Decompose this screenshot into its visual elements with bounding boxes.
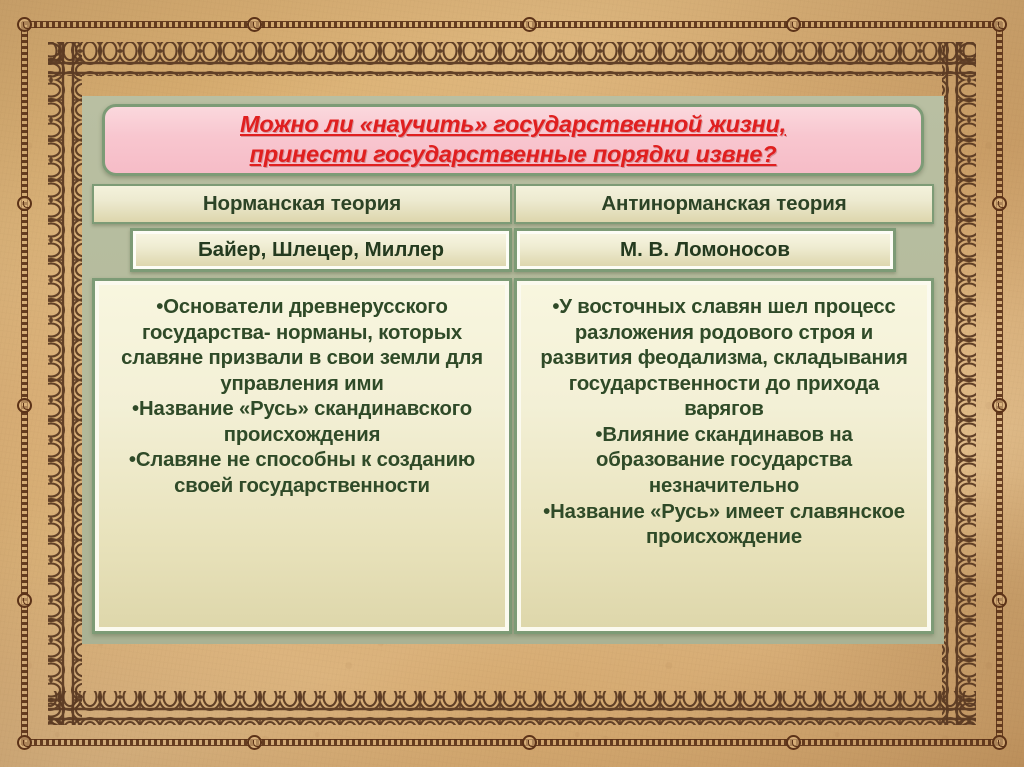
bullet-item: Славяне не способны к созданию своей гос… (111, 448, 493, 499)
theory-header-row: Норманская теория Антинорманская теория (92, 184, 934, 224)
author-box-norman: Байер, Шлецер, Миллер (130, 228, 512, 272)
bullet-list-anti-norman: У восточных славян шел процесс разложени… (533, 295, 915, 551)
slide-canvas: Можно ли «научить» государственной жизни… (0, 0, 1024, 767)
theory-label-anti-norman: Антинорманская теория (601, 192, 846, 216)
chain-band-top (48, 42, 976, 76)
content-panel: Можно ли «научить» государственной жизни… (82, 96, 944, 644)
theory-label-norman: Норманская теория (203, 192, 401, 216)
author-left-cell: Байер, Шлецер, Миллер (92, 228, 512, 272)
chain-band-bottom (48, 691, 976, 725)
body-row: Основатели древнерусского государства- н… (92, 278, 934, 634)
author-inner-anti-norman: М. В. Ломоносов (520, 234, 890, 266)
body-inner-anti-norman: У восточных славян шел процесс разложени… (521, 285, 927, 627)
bullet-item: Название «Русь» скандинавского происхожд… (111, 397, 493, 448)
author-outer-anti-norman: М. В. Ломоносов (514, 228, 934, 272)
author-label-anti-norman: М. В. Ломоносов (620, 238, 790, 262)
body-left-cell: Основатели древнерусского государства- н… (92, 278, 512, 634)
theory-header-right-cell: Антинорманская теория (514, 184, 934, 224)
body-box-anti-norman: У восточных славян шел процесс разложени… (514, 278, 934, 634)
author-outer-norman: Байер, Шлецер, Миллер (92, 228, 512, 272)
bullet-item: Основатели древнерусского государства- н… (111, 295, 493, 397)
body-box-norman: Основатели древнерусского государства- н… (92, 278, 512, 634)
bullet-item: Влияние скандинавов на образование госуд… (533, 423, 915, 500)
slide-title-line-1: Можно ли «научить» государственной жизни… (240, 111, 786, 137)
theory-header-norman: Норманская теория (92, 184, 512, 224)
chain-band-left (48, 42, 82, 725)
author-inner-norman: Байер, Шлецер, Миллер (136, 234, 506, 266)
slide-title-line-2: принести государственные порядки извне? (250, 141, 777, 167)
author-box-anti-norman: М. В. Ломоносов (514, 228, 896, 272)
bullet-item: У восточных славян шел процесс разложени… (533, 295, 915, 423)
body-inner-norman: Основатели древнерусского государства- н… (99, 285, 505, 627)
author-label-norman: Байер, Шлецер, Миллер (198, 238, 444, 262)
slide-title: Можно ли «научить» государственной жизни… (226, 110, 800, 169)
theory-header-left-cell: Норманская теория (92, 184, 512, 224)
theory-header-anti-norman: Антинорманская теория (514, 184, 934, 224)
bullet-list-norman: Основатели древнерусского государства- н… (111, 295, 493, 500)
body-right-cell: У восточных славян шел процесс разложени… (514, 278, 934, 634)
bullet-item: Название «Русь» имеет славянское происхо… (533, 500, 915, 551)
author-row: Байер, Шлецер, Миллер М. В. Ломоносов (92, 228, 934, 272)
slide-title-box: Можно ли «научить» государственной жизни… (102, 104, 924, 176)
chain-band-right (942, 42, 976, 725)
author-right-cell: М. В. Ломоносов (514, 228, 934, 272)
